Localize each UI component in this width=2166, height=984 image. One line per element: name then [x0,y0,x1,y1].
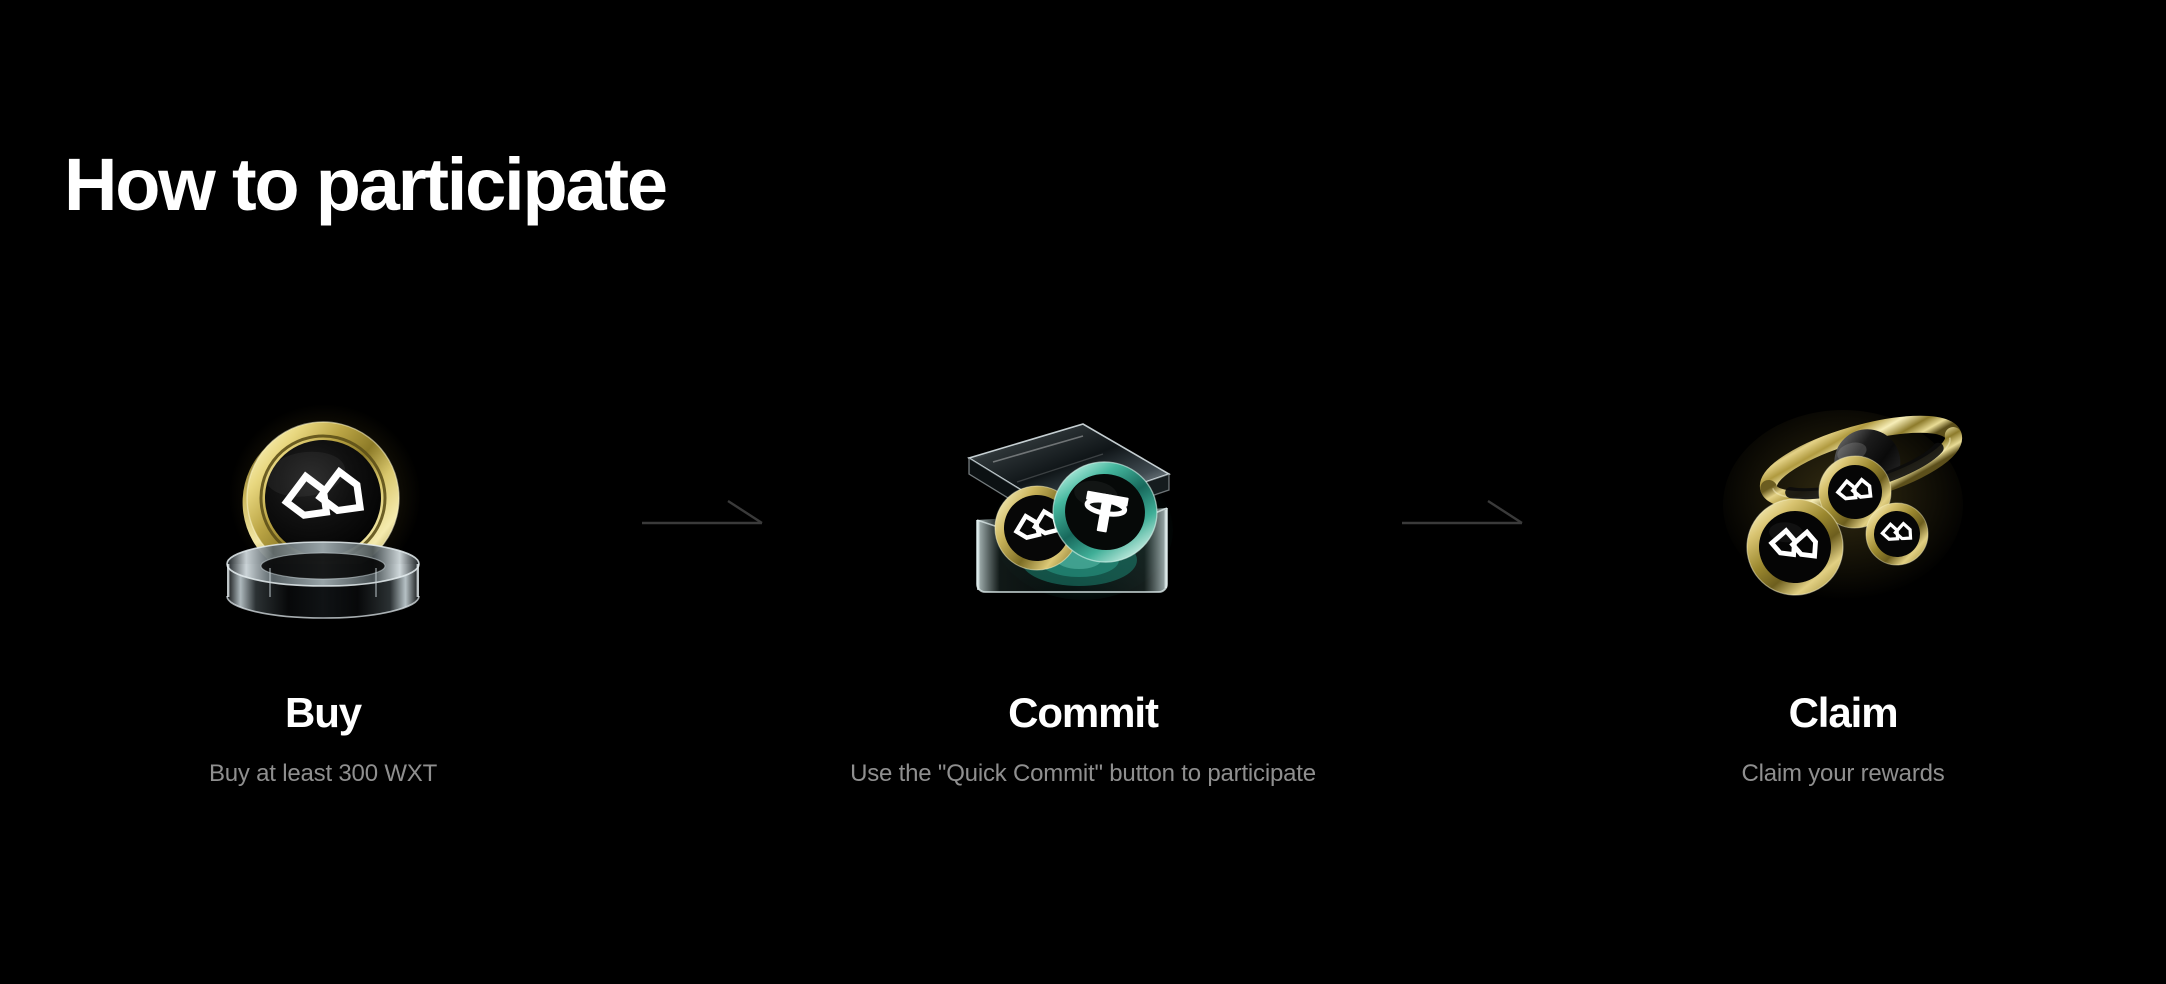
step-description-buy: Buy at least 300 WXT [209,762,437,786]
arrow-right-icon [1402,497,1524,533]
step-description-commit: Use the "Quick Commit" button to partici… [850,762,1316,786]
arrow-commit-to-claim [1393,400,1533,630]
step-description-claim: Claim your rewards [1741,762,1944,786]
step-title-claim: Claim [1789,692,1898,734]
gold-ring-with-falling-coins-illustration [1693,400,1993,630]
steps-row: Buy Buy at least 300 WXT [0,400,2166,900]
page-title: How to participate [64,148,666,222]
gold-wxt-coin-on-glass-pedestal-illustration [173,400,473,630]
open-glass-box-with-coins-illustration [933,400,1233,630]
step-title-commit: Commit [1008,692,1158,734]
arrow-right-icon [642,497,764,533]
step-buy: Buy Buy at least 300 WXT [13,400,633,786]
step-commit: Commit Use the "Quick Commit" button to … [773,400,1393,786]
step-claim: Claim Claim your rewards [1533,400,2153,786]
arrow-buy-to-commit [633,400,773,630]
how-to-participate-section: How to participate [0,0,2166,984]
step-title-buy: Buy [285,692,361,734]
